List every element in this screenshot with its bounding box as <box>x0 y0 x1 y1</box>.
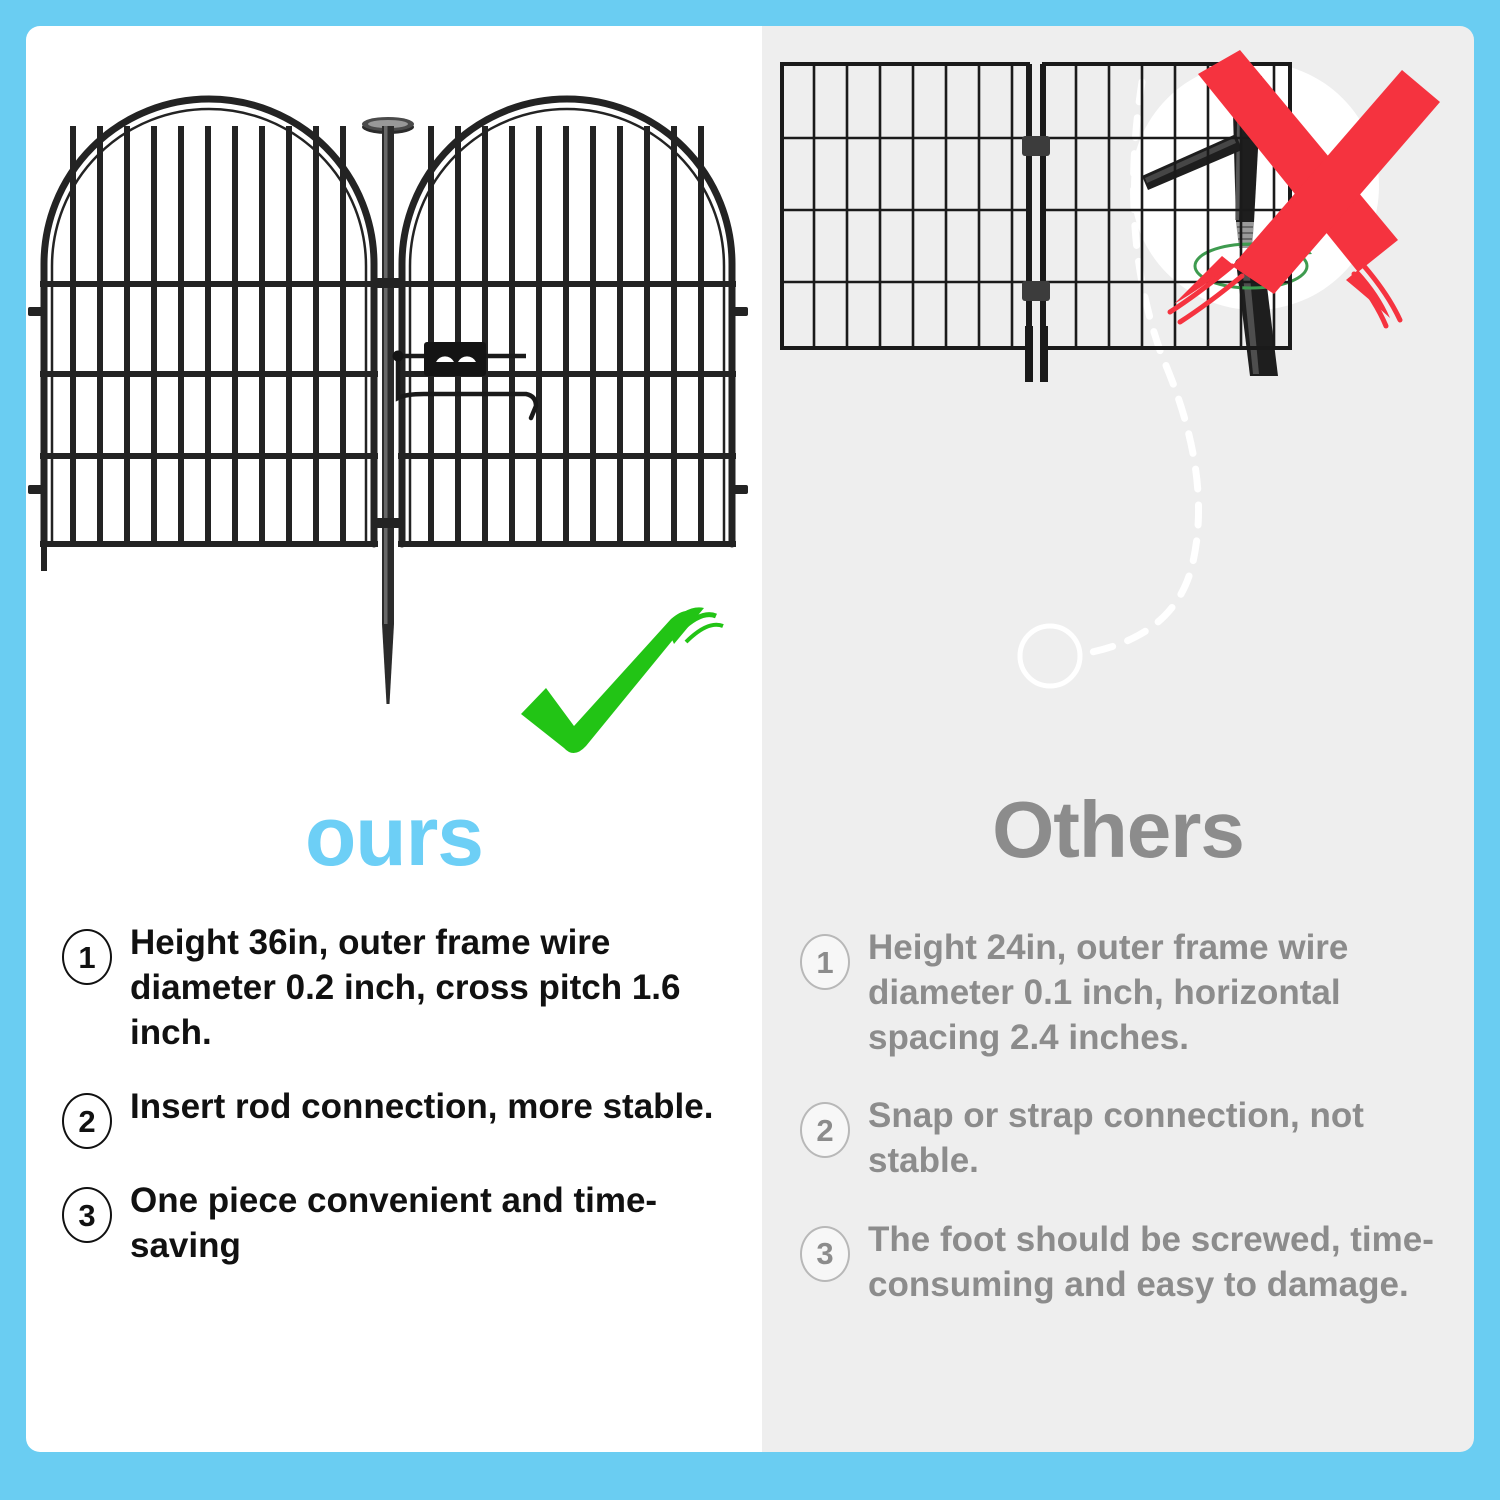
ours-bullet-list: 1 Height 36in, outer frame wire diameter… <box>26 921 762 1299</box>
bullet-number: 1 <box>62 929 112 985</box>
grid-panel-left <box>782 64 1028 348</box>
others-panel: Others 1 Height 24in, outer frame wire d… <box>762 26 1474 1452</box>
others-illustration <box>762 26 1474 786</box>
grid-fence-illustration <box>762 26 1474 786</box>
fence-panel-left <box>28 99 378 571</box>
screw-foot-stub <box>1025 326 1048 382</box>
ours-heading: ours <box>26 794 762 878</box>
fence-panel-right <box>398 99 748 544</box>
ours-panel: ours 1 Height 36in, outer frame wire dia… <box>26 26 762 1452</box>
bullet-number: 1 <box>800 934 850 990</box>
others-heading: Others <box>762 790 1474 870</box>
bullet-text: Insert rod connection, more stable. <box>130 1085 748 1130</box>
list-item: 1 Height 36in, outer frame wire diameter… <box>62 921 748 1055</box>
bullet-text: Snap or strap connection, not stable. <box>868 1094 1452 1184</box>
leader-end-circle <box>1020 626 1080 686</box>
insert-rod-stake <box>362 117 414 704</box>
list-item: 1 Height 24in, outer frame wire diameter… <box>800 926 1452 1060</box>
bullet-text: Height 36in, outer frame wire diameter 0… <box>130 921 748 1055</box>
bullet-number: 2 <box>800 1102 850 1158</box>
ours-illustration <box>26 26 762 786</box>
bullet-text: One piece convenient and time-saving <box>130 1179 748 1269</box>
list-item: 2 Insert rod connection, more stable. <box>62 1085 748 1149</box>
bullet-text: The foot should be screwed, time-consumi… <box>868 1218 1452 1308</box>
list-item: 3 One piece convenient and time-saving <box>62 1179 748 1269</box>
list-item: 3 The foot should be screwed, time-consu… <box>800 1218 1452 1308</box>
bullet-text: Height 24in, outer frame wire diameter 0… <box>868 926 1452 1060</box>
green-check-icon <box>521 607 723 753</box>
bullet-number: 3 <box>800 1226 850 1282</box>
arched-fence-illustration <box>26 26 762 786</box>
others-bullet-list: 1 Height 24in, outer frame wire diameter… <box>762 926 1474 1342</box>
list-item: 2 Snap or strap connection, not stable. <box>800 1094 1452 1184</box>
comparison-infographic: ours 1 Height 36in, outer frame wire dia… <box>0 0 1500 1500</box>
bullet-number: 2 <box>62 1093 112 1149</box>
bullet-number: 3 <box>62 1187 112 1243</box>
